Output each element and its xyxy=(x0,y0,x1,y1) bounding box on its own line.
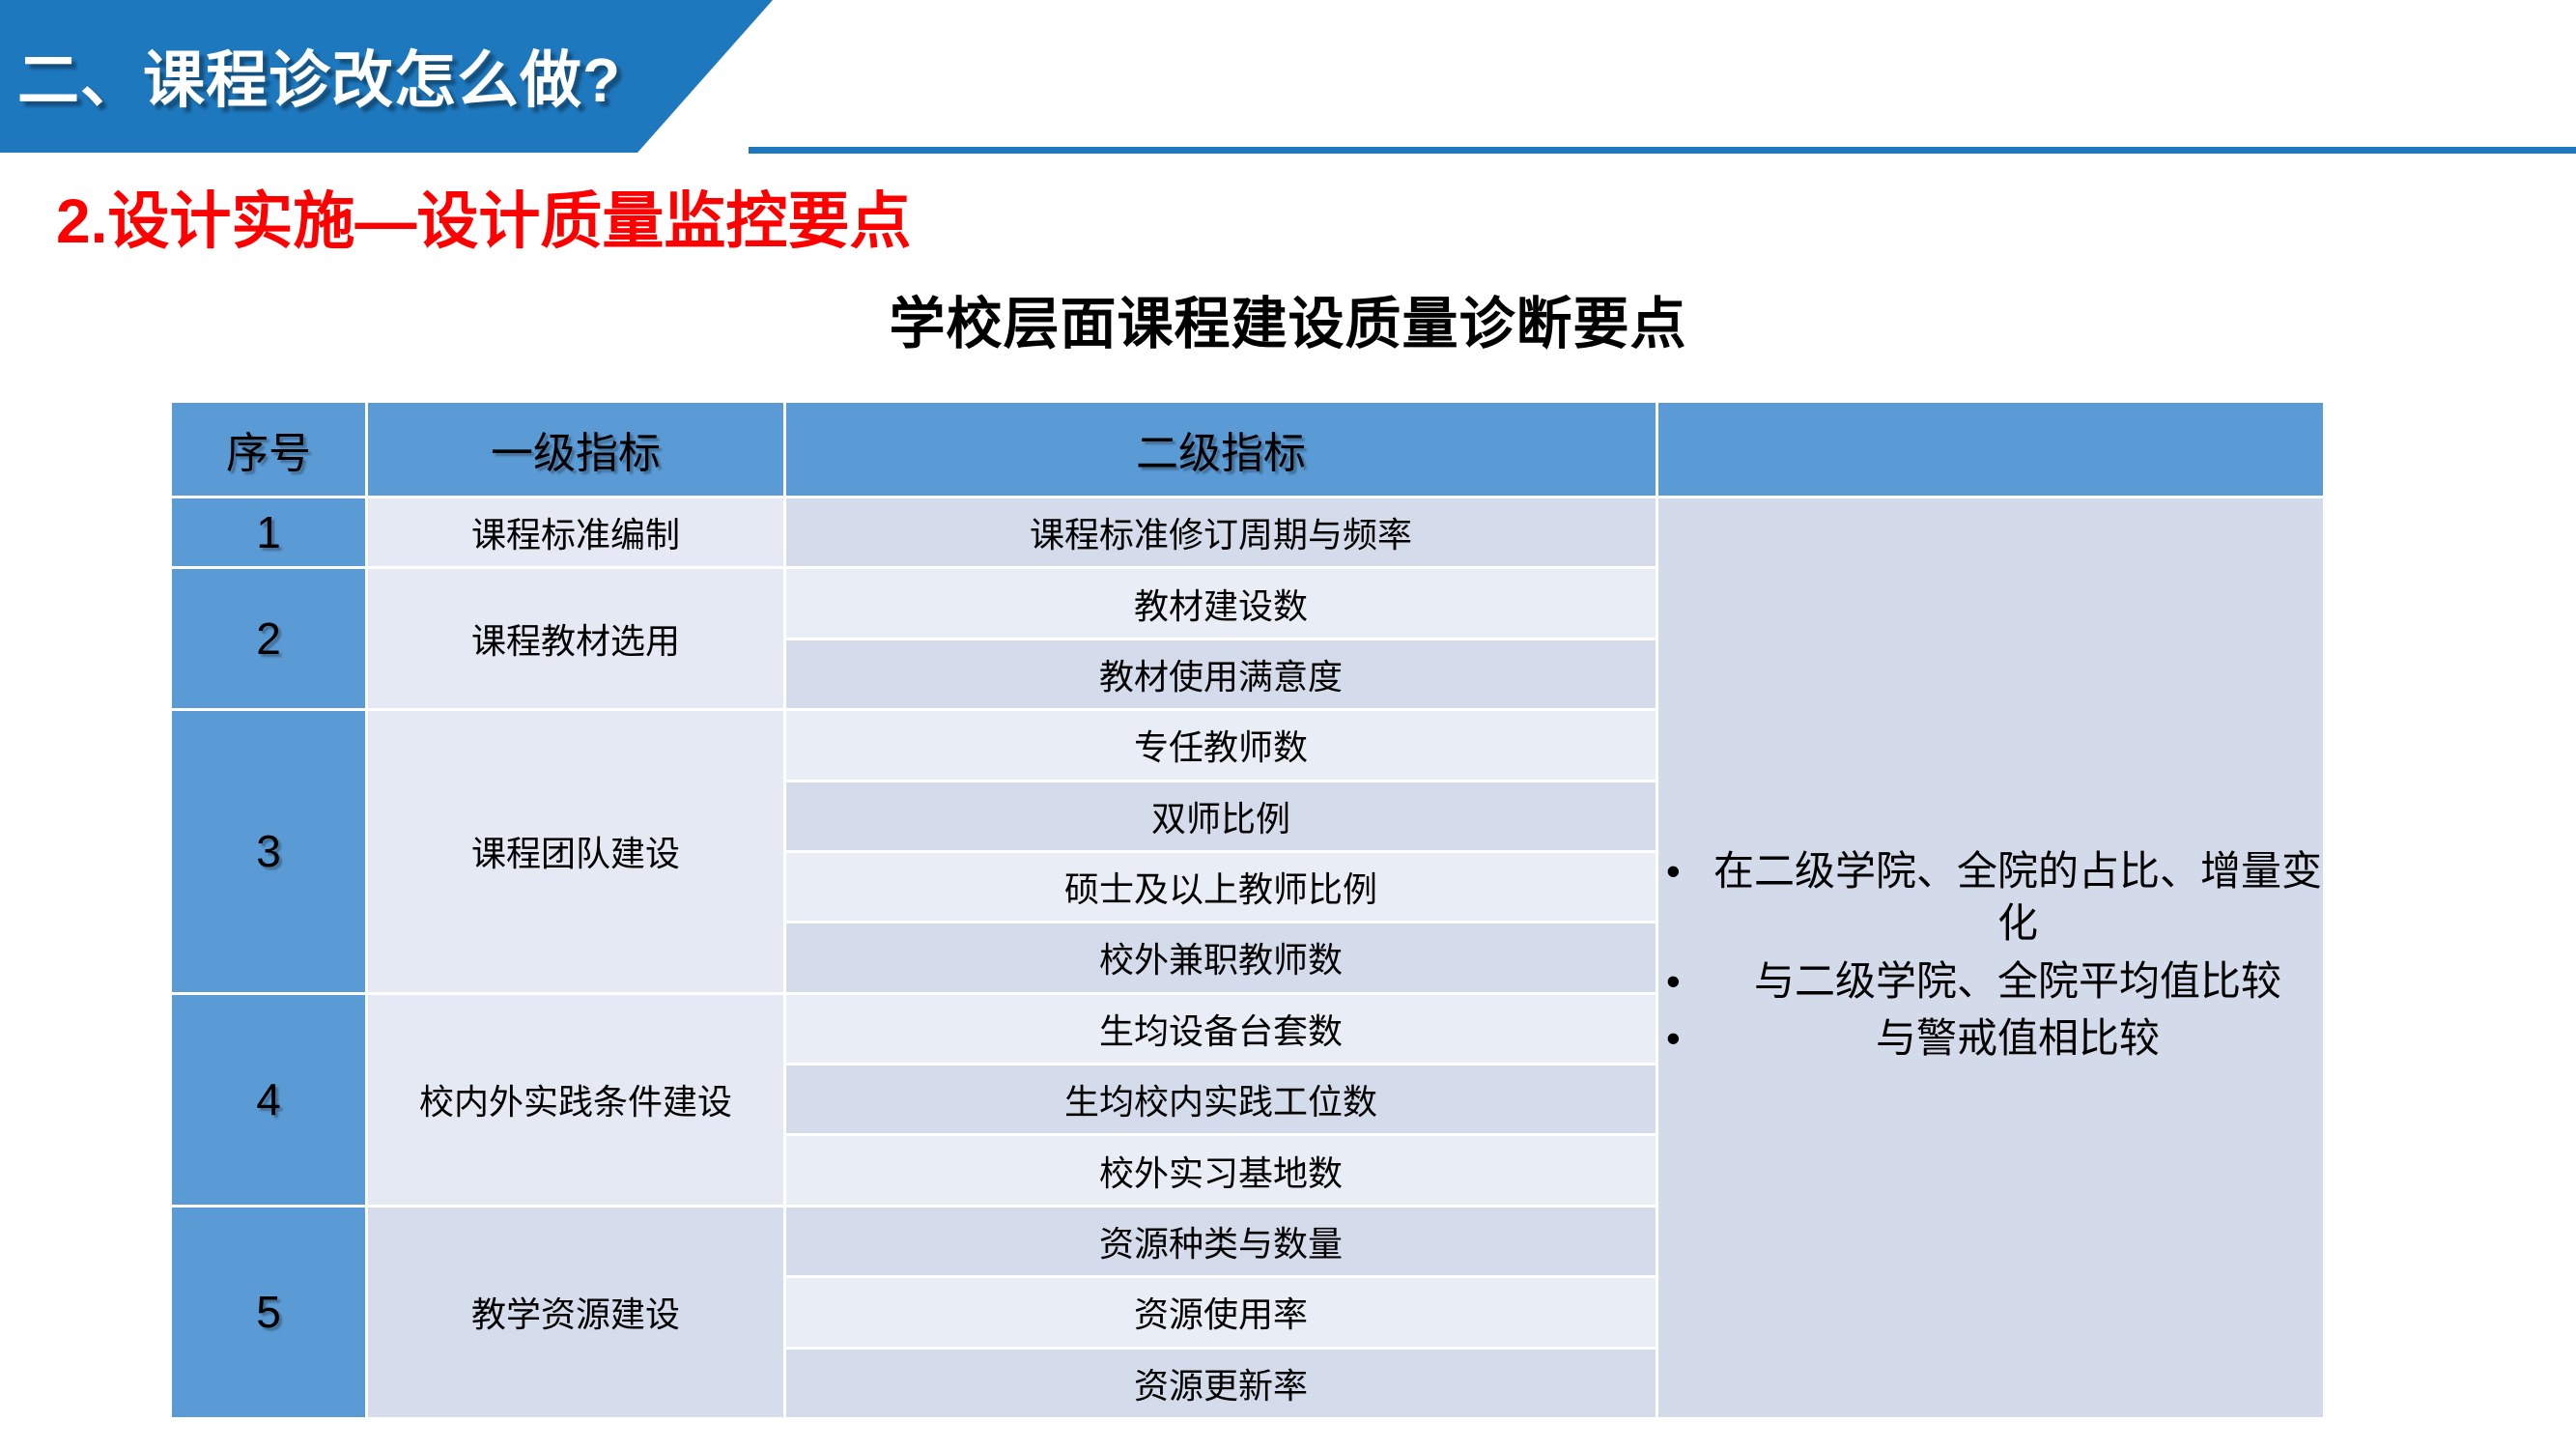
cell-seq: 5 xyxy=(172,1208,365,1417)
cell-level2: 生均设备台套数 xyxy=(786,995,1656,1063)
note-item: •与二级学院、全院平均值比较 xyxy=(1658,955,2323,1008)
cell-level2: 校外兼职教师数 xyxy=(786,924,1656,991)
cell-level2: 硕士及以上教师比例 xyxy=(786,853,1656,921)
cell-level2: 资源更新率 xyxy=(786,1350,1656,1418)
cell-level2: 生均校内实践工位数 xyxy=(786,1066,1656,1133)
cell-level2: 资源使用率 xyxy=(786,1278,1656,1346)
notes-list: •在二级学院、全院的占比、增量变化 •与二级学院、全院平均值比较 •与警戒值相比… xyxy=(1658,845,2323,1065)
cell-level1: 教学资源建设 xyxy=(368,1208,783,1417)
bullet-icon: • xyxy=(1666,955,1681,1008)
section-heading: 2.设计实施—设计质量监控要点 xyxy=(56,172,911,261)
note-text: 与警戒值相比较 xyxy=(1876,1015,2160,1061)
cell-level2: 双师比例 xyxy=(786,782,1656,850)
indicator-table: 序号 一级指标 二级指标 1 课程标准编制 课程标准修订周期与频率 •在二级学院… xyxy=(169,400,2326,1420)
cell-notes: •在二级学院、全院的占比、增量变化 •与二级学院、全院平均值比较 •与警戒值相比… xyxy=(1658,498,2323,1417)
cell-level2: 资源种类与数量 xyxy=(786,1208,1656,1275)
cell-level1: 校内外实践条件建设 xyxy=(368,995,783,1205)
table-header-row: 序号 一级指标 二级指标 xyxy=(172,403,2323,496)
banner-title: 二、课程诊改怎么做? xyxy=(17,8,751,143)
header-divider-line xyxy=(749,147,2576,154)
column-header-level1: 一级指标 xyxy=(368,403,783,496)
column-header-level2: 二级指标 xyxy=(786,403,1656,496)
note-item: •与警戒值相比较 xyxy=(1658,1012,2323,1065)
note-text: 在二级学院、全院的占比、增量变化 xyxy=(1713,848,2322,946)
table-title: 学校层面课程建设质量诊断要点 xyxy=(0,278,2576,359)
cell-level2: 课程标准修订周期与频率 xyxy=(786,498,1656,566)
cell-level1: 课程团队建设 xyxy=(368,711,783,992)
note-text: 与二级学院、全院平均值比较 xyxy=(1754,958,2281,1004)
cell-level1: 课程标准编制 xyxy=(368,498,783,566)
cell-level2: 教材建设数 xyxy=(786,569,1656,637)
cell-seq: 2 xyxy=(172,569,365,708)
cell-level2: 校外实习基地数 xyxy=(786,1136,1656,1204)
bullet-icon: • xyxy=(1666,1012,1681,1065)
bullet-icon: • xyxy=(1666,845,1681,897)
cell-level1: 课程教材选用 xyxy=(368,569,783,708)
cell-seq: 3 xyxy=(172,711,365,992)
cell-level2: 教材使用满意度 xyxy=(786,640,1656,708)
table-row: 1 课程标准编制 课程标准修订周期与频率 •在二级学院、全院的占比、增量变化 •… xyxy=(172,498,2323,566)
cell-level2: 专任教师数 xyxy=(786,711,1656,779)
indicator-table-wrapper: 序号 一级指标 二级指标 1 课程标准编制 课程标准修订周期与频率 •在二级学院… xyxy=(169,400,2311,1420)
cell-seq: 4 xyxy=(172,995,365,1205)
column-header-notes xyxy=(1658,403,2323,496)
slide-canvas: 二、课程诊改怎么做? 2.设计实施—设计质量监控要点 学校层面课程建设质量诊断要… xyxy=(0,0,2576,1450)
column-header-seq: 序号 xyxy=(172,403,365,496)
cell-seq: 1 xyxy=(172,498,365,566)
note-item: •在二级学院、全院的占比、增量变化 xyxy=(1658,845,2323,950)
